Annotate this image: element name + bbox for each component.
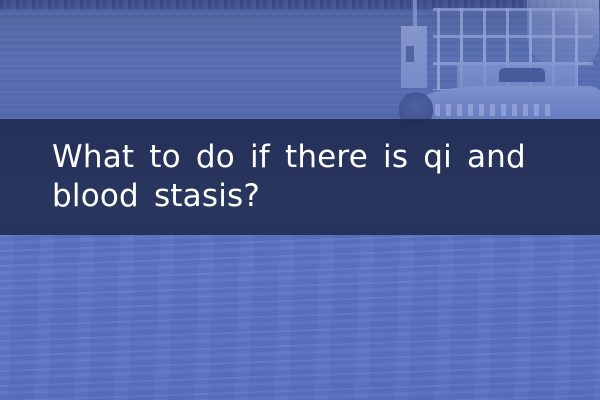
caption-headline: What to do if there is qi and blood stas…	[52, 138, 556, 216]
water-foreground-region	[0, 235, 600, 400]
boat-locker-marking	[406, 46, 414, 62]
boat-cabin-window	[499, 68, 545, 82]
boat-hull-lettering	[435, 104, 555, 116]
sailboat	[395, 0, 600, 125]
caption-overlay-band: What to do if there is qi and blood stas…	[0, 119, 600, 235]
boat-deck-locker	[401, 26, 427, 88]
image-canvas: What to do if there is qi and blood stas…	[0, 0, 600, 400]
